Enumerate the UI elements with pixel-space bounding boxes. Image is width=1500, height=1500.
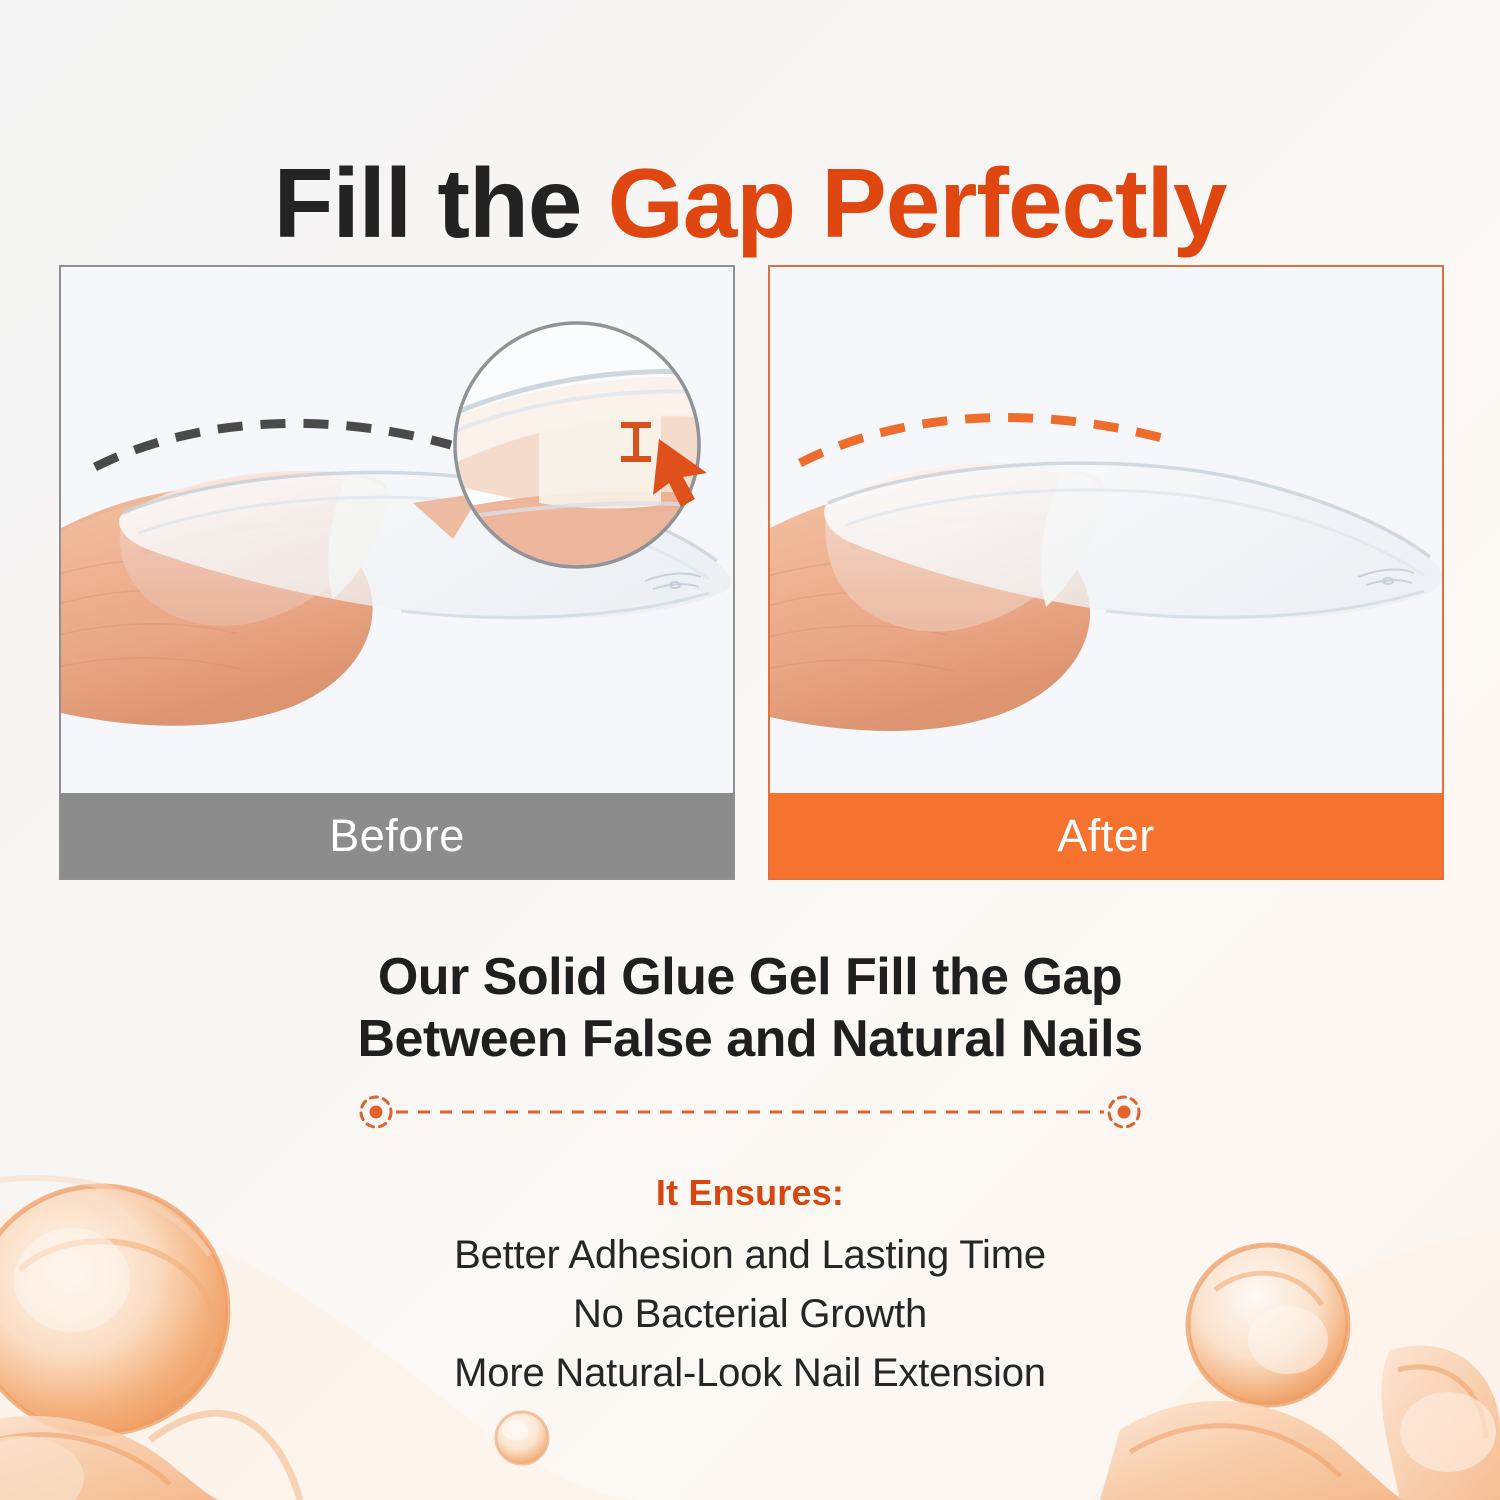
before-photo xyxy=(61,267,733,795)
before-panel: Before xyxy=(59,265,735,880)
benefits-section: It Ensures: Better Adhesion and Lasting … xyxy=(0,1172,1500,1402)
divider-endcap-left xyxy=(361,1097,391,1127)
benefit-item: More Natural-Look Nail Extension xyxy=(0,1344,1500,1403)
page-title: Fill the Gap Perfectly xyxy=(0,152,1500,255)
page-title-accent-part: Gap Perfectly xyxy=(608,148,1227,258)
before-label: Before xyxy=(61,793,733,878)
benefit-item: Better Adhesion and Lasting Time xyxy=(0,1226,1500,1285)
page-title-dark-part: Fill the xyxy=(274,148,608,258)
value-proposition-line-1: Our Solid Glue Gel Fill the Gap xyxy=(0,946,1500,1008)
comparison-panels: Before xyxy=(59,265,1444,880)
after-label: After xyxy=(770,793,1442,878)
benefits-title: It Ensures: xyxy=(0,1172,1500,1214)
divider-endcap-right xyxy=(1109,1097,1139,1127)
value-proposition: Our Solid Glue Gel Fill the Gap Between … xyxy=(0,946,1500,1071)
after-panel: After xyxy=(768,265,1444,880)
benefit-item: No Bacterial Growth xyxy=(0,1285,1500,1344)
value-proposition-line-2: Between False and Natural Nails xyxy=(0,1008,1500,1070)
gel-droplet-small xyxy=(496,1412,548,1464)
after-photo xyxy=(770,267,1442,795)
section-divider xyxy=(356,1092,1144,1132)
benefits-list: Better Adhesion and Lasting Time No Bact… xyxy=(0,1226,1500,1402)
